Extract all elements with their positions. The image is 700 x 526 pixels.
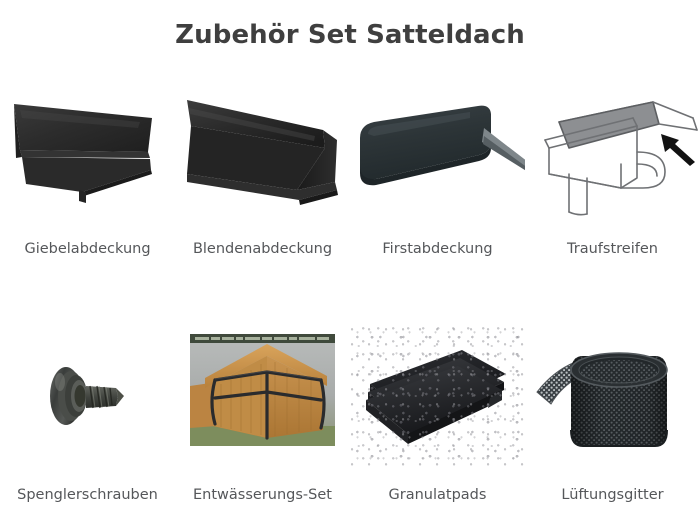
ventilation-grille-icon — [525, 326, 700, 466]
eaves-strip-diagram — [525, 78, 700, 218]
pointer-arrow-icon — [631, 131, 695, 166]
product-row-1: Giebelabdeckung — [0, 78, 700, 278]
product-label-traufstreifen: Traufstreifen — [567, 240, 658, 258]
granulate-pads-photo — [350, 326, 525, 466]
ridge-cap-photo — [350, 78, 525, 218]
product-label-lueftungsgitter: Lüftungsgitter — [561, 486, 663, 504]
granulate-pads-icon — [350, 326, 525, 466]
roofing-screw-photo — [0, 326, 175, 466]
product-label-granulatpads: Granulatpads — [389, 486, 487, 504]
accessory-set-overview: Zubehör Set Satteldach — [0, 0, 700, 525]
fascia-flashing-icon — [175, 78, 350, 218]
drainage-set-shed-icon — [175, 326, 350, 466]
fascia-flashing-photo — [175, 78, 350, 218]
product-label-firstabdeckung: Firstabdeckung — [382, 240, 492, 258]
gable-flashing-icon — [0, 78, 175, 218]
product-cell-blendenabdeckung[interactable]: Blendenabdeckung — [175, 78, 350, 278]
product-label-blendenabdeckung: Blendenabdeckung — [193, 240, 332, 258]
ridge-cap-icon — [350, 78, 525, 218]
product-label-entwaesserungs-set: Entwässerungs-Set — [193, 486, 332, 504]
product-label-giebelabdeckung: Giebelabdeckung — [24, 240, 150, 258]
eaves-strip-icon — [525, 78, 700, 218]
page-title: Zubehör Set Satteldach — [0, 0, 700, 52]
gable-flashing-photo — [0, 78, 175, 218]
product-label-spenglerschrauben: Spenglerschrauben — [17, 486, 158, 504]
product-cell-entwaesserungs-set[interactable]: Entwässerungs-Set — [175, 326, 350, 526]
product-cell-giebelabdeckung[interactable]: Giebelabdeckung — [0, 78, 175, 278]
product-grid: Giebelabdeckung — [0, 78, 700, 526]
roofing-screw-icon — [0, 326, 175, 466]
product-cell-spenglerschrauben[interactable]: Spenglerschrauben — [0, 326, 175, 526]
product-cell-lueftungsgitter[interactable]: Lüftungsgitter — [525, 326, 700, 526]
product-cell-traufstreifen[interactable]: Traufstreifen — [525, 78, 700, 278]
product-cell-firstabdeckung[interactable]: Firstabdeckung — [350, 78, 525, 278]
product-row-2: Spenglerschrauben — [0, 326, 700, 526]
ventilation-grille-photo — [525, 326, 700, 466]
drainage-set-shed-photo — [175, 326, 350, 466]
product-cell-granulatpads[interactable]: Granulatpads — [350, 326, 525, 526]
